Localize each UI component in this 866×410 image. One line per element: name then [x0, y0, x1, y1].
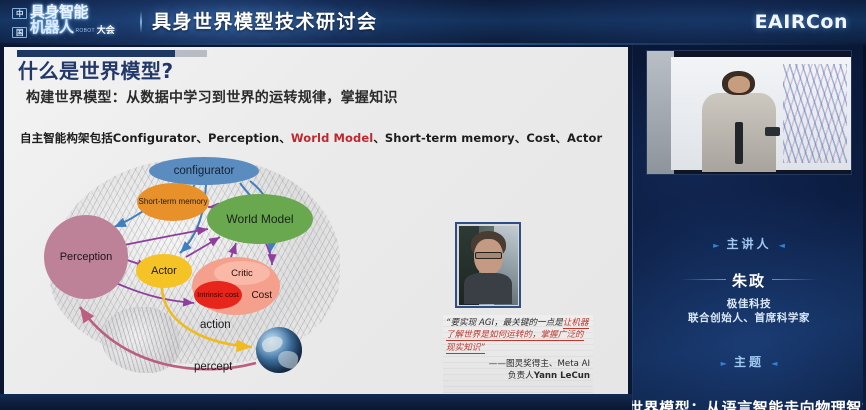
speaker-section-label: ► 主讲人 ◄	[632, 235, 866, 252]
slide-title: 什么是世界模型?	[18, 58, 174, 84]
quote-attr-line1: ——图灵奖得主、Meta AI	[489, 359, 590, 369]
diagram-node-cost-cluster: Cost Critic Intrinsic cost	[192, 257, 280, 315]
logo-line2-text: 机器人	[30, 20, 74, 35]
diagram-node-world-model: World Model	[207, 194, 313, 244]
slide-area: 什么是世界模型? 构建世界模型：从数据中学习到世界的运转规律，掌握知识 自主智能…	[0, 45, 632, 410]
bullet-suffix-text: 、Short-term memory、Cost、Actor	[373, 131, 602, 145]
presenter-clicker-icon	[765, 127, 779, 136]
name-rule-right	[772, 279, 818, 280]
name-rule-left	[680, 279, 726, 280]
quote-attribution: ——图灵奖得主、Meta AI 负责人Yann LeCun	[446, 359, 590, 382]
bullet-highlight-text: World Model	[291, 131, 373, 145]
slide-bullet-line: 自主智能构架包括Configurator、Perception、World Mo…	[20, 130, 602, 146]
speaker-live-video	[646, 50, 852, 175]
diagram-node-intrinsic-cost: Intrinsic cost	[194, 281, 242, 309]
title-accent-bar-dark	[17, 50, 175, 57]
quote-part-1: “要实现 AGI，最关键的一点是	[446, 318, 563, 328]
logo-line-2: 机器人 ROBOT 大会	[30, 20, 115, 35]
diagram-node-cost-label: Cost	[251, 290, 272, 301]
left-triangle-icon: ►	[713, 241, 719, 250]
glasses-icon	[475, 252, 502, 259]
world-model-architecture-diagram: configurator Short-term memory World Mod…	[44, 157, 404, 387]
topic-left-triangle-icon: ►	[721, 359, 727, 368]
bullet-prefix-text: 自主智能构架包括Configurator、Perception、	[20, 131, 291, 145]
diagram-node-actor: Actor	[136, 254, 192, 288]
header-separator	[140, 11, 142, 33]
video-dna-graphic	[783, 64, 848, 164]
slide-bottom-band	[0, 394, 632, 410]
speaker-role: 联合创始人、首席科学家	[632, 311, 866, 326]
logo-dots: · · · · ·	[30, 36, 115, 41]
topic-section-label: ► 主题 ◄	[632, 353, 866, 370]
diagram-node-perception: Perception	[44, 215, 128, 299]
logo-dahui-text: 大会	[97, 25, 115, 35]
eaircon-brand-logo: EAIRCon	[755, 11, 848, 33]
topic-label-text: 主题	[734, 355, 764, 369]
speaker-organization: 极佳科技	[632, 297, 866, 312]
conference-logo: 中 国 具身智能 机器人 ROBOT 大会 · · · · ·	[12, 6, 130, 40]
speaker-face	[728, 76, 750, 93]
portrait-inner	[459, 226, 518, 305]
talk-topic-title: 世界模型：从语言智能走向物理智能	[632, 397, 866, 410]
quote-attr-line2-prefix: 负责人	[508, 371, 534, 381]
event-title: 具身世界模型技术研讨会	[152, 10, 378, 34]
earth-globe-icon	[256, 327, 302, 373]
logo-cn-char-1: 中	[12, 8, 27, 19]
diagram-node-configurator: configurator	[149, 157, 259, 185]
diagram-node-short-term-memory: Short-term memory	[137, 183, 209, 221]
speaker-name: 朱政	[632, 270, 866, 291]
portrait-shirt	[464, 273, 511, 305]
speaker-info-panel: ► 主讲人 ◄ 朱政 极佳科技 联合创始人、首席科学家 ► 主题 ◄ 世界模型：…	[632, 45, 866, 410]
diagram-edge-label-action: action	[200, 319, 231, 331]
microphone-icon	[735, 122, 743, 164]
yann-lecun-portrait	[455, 222, 521, 308]
lecun-quote-block: “要实现 AGI，最关键的一点是让机器了解世界是如何运转的，掌握广泛的现实知识”…	[443, 315, 593, 393]
quote-attr-name: Yann LeCun	[534, 371, 590, 381]
topic-right-triangle-icon: ◄	[771, 359, 777, 368]
right-triangle-icon: ◄	[779, 241, 785, 250]
logo-cn-char-2: 国	[12, 27, 27, 38]
video-left-wall	[647, 51, 674, 174]
title-accent-bar-gray	[175, 50, 207, 57]
top-header-bar: 中 国 具身智能 机器人 ROBOT 大会 · · · · · 具身世界模型技术…	[0, 0, 866, 45]
diagram-edge-label-percept: percept	[194, 361, 232, 373]
speaker-label-text: 主讲人	[726, 237, 771, 251]
presentation-slide: 什么是世界模型? 构建世界模型：从数据中学习到世界的运转规律，掌握知识 自主智能…	[4, 47, 628, 395]
slide-subtitle: 构建世界模型：从数据中学习到世界的运转规律，掌握知识	[26, 89, 398, 108]
logo-text-block: 具身智能 机器人 ROBOT 大会 · · · · ·	[30, 5, 115, 41]
logo-china-chars: 中 国	[12, 8, 27, 38]
logo-line2-subtext: ROBOT	[76, 28, 95, 35]
